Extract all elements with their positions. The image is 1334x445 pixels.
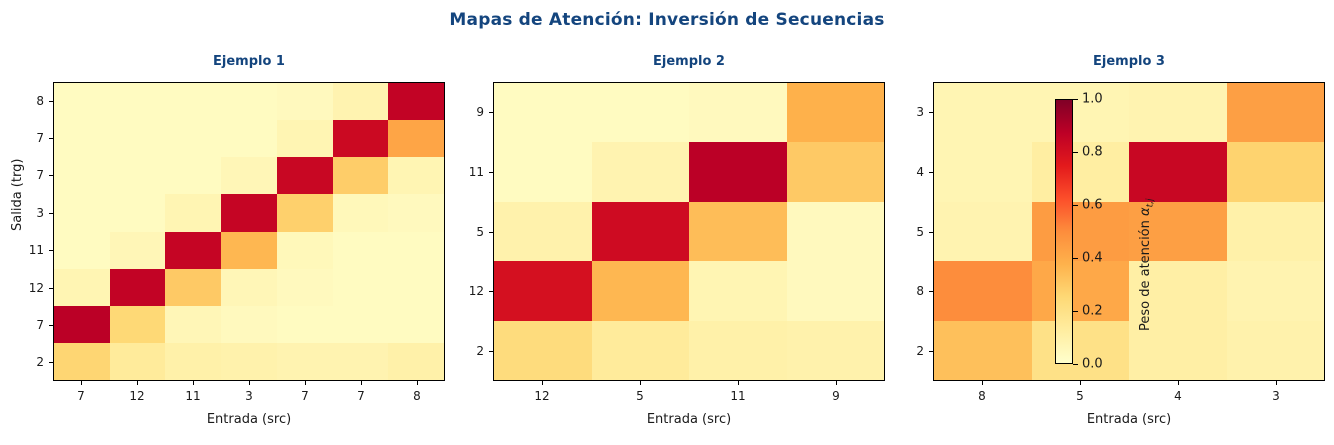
x-tick-label: 11 <box>185 389 200 403</box>
y-tick-mark <box>489 112 493 113</box>
subplot-ejemplo-3: Ejemplo 3 Entrada (src) 854334582 <box>933 82 1325 381</box>
subplot-title-3: Ejemplo 3 <box>933 54 1325 69</box>
heatmap-cell <box>165 120 221 157</box>
x-tick-label: 3 <box>1272 389 1280 403</box>
heatmap-cell <box>277 157 333 194</box>
heatmap-cell <box>494 83 592 142</box>
heatmap-cell <box>787 202 885 261</box>
heatmap-cell <box>333 83 389 120</box>
subplot-title-1: Ejemplo 1 <box>53 54 445 69</box>
x-tick-label: 4 <box>1174 389 1182 403</box>
heatmap-cell <box>494 202 592 261</box>
y-tick-label: 5 <box>476 225 484 239</box>
y-tick-label: 7 <box>36 168 44 182</box>
y-tick-mark <box>49 362 53 363</box>
y-tick-label: 3 <box>916 105 924 119</box>
colorbar-tick-mark <box>1073 99 1078 100</box>
y-tick-mark <box>929 351 933 352</box>
heatmap-cell <box>1032 83 1130 142</box>
colorbar-tick-mark <box>1073 205 1078 206</box>
y-tick-mark <box>929 112 933 113</box>
heatmap-cell <box>221 120 277 157</box>
heatmap-cell <box>110 306 166 343</box>
heatmap-cell <box>934 142 1032 201</box>
figure-title: Mapas de Atención: Inversión de Secuenci… <box>0 10 1334 30</box>
x-tick-mark <box>1178 381 1179 385</box>
heatmap-cell <box>54 157 110 194</box>
y-axis-label: Salida (trg) <box>10 159 25 231</box>
heatmap-cell <box>333 269 389 306</box>
heatmap-cell <box>592 321 690 380</box>
x-tick-mark <box>836 381 837 385</box>
y-tick-label: 3 <box>36 206 44 220</box>
heatmap-cell <box>1032 321 1130 380</box>
heatmap-cell <box>54 343 110 380</box>
y-tick-label: 8 <box>916 284 924 298</box>
colorbar-tick-label: 0.6 <box>1082 198 1103 213</box>
heatmap-cell <box>277 306 333 343</box>
heatmap-cell <box>592 202 690 261</box>
heatmap-cell <box>277 194 333 231</box>
heatmap-cell <box>934 321 1032 380</box>
x-tick-label: 7 <box>77 389 85 403</box>
heatmap-cell <box>165 157 221 194</box>
heatmap-cell <box>1227 83 1325 142</box>
colorbar-label-alpha: α <box>1138 207 1153 216</box>
y-tick-mark <box>49 213 53 214</box>
x-tick-mark <box>417 381 418 385</box>
heatmap-cell <box>110 157 166 194</box>
x-tick-label: 7 <box>301 389 309 403</box>
x-tick-mark <box>1080 381 1081 385</box>
colorbar-tick-mark <box>1073 364 1078 365</box>
heatmap-cell <box>54 194 110 231</box>
heatmap-cell <box>221 194 277 231</box>
heatmap-cell <box>277 83 333 120</box>
heatmap-cell <box>494 261 592 320</box>
heatmap-cell <box>54 120 110 157</box>
y-tick-mark <box>49 250 53 251</box>
heatmap-cell <box>165 194 221 231</box>
heatmap-cell <box>110 232 166 269</box>
x-tick-mark <box>542 381 543 385</box>
colorbar-tick-label: 1.0 <box>1082 92 1103 107</box>
heatmap-cell <box>333 232 389 269</box>
heatmap-cell <box>388 157 444 194</box>
subplot-ejemplo-2: Ejemplo 2 Entrada (src) 1251199115122 <box>493 82 885 381</box>
x-tick-mark <box>137 381 138 385</box>
heatmap-cell <box>388 83 444 120</box>
x-tick-label: 9 <box>832 389 840 403</box>
subplot-title-2: Ejemplo 2 <box>493 54 885 69</box>
x-tick-mark <box>193 381 194 385</box>
heatmap-cell <box>165 269 221 306</box>
heatmap-cell <box>934 83 1032 142</box>
heatmap-cell <box>54 83 110 120</box>
x-tick-label: 7 <box>357 389 365 403</box>
colorbar-tick-label: 0.2 <box>1082 304 1103 319</box>
heatmap-cell <box>221 157 277 194</box>
heatmap-cell <box>689 202 787 261</box>
heatmap-cell <box>787 261 885 320</box>
x-tick-mark <box>305 381 306 385</box>
heatmap-cell <box>494 321 592 380</box>
heatmap-cell <box>1129 142 1227 201</box>
y-tick-mark <box>489 172 493 173</box>
heatmap-cell <box>333 306 389 343</box>
y-tick-mark <box>489 291 493 292</box>
heatmap-cell <box>787 83 885 142</box>
y-tick-mark <box>929 291 933 292</box>
colorbar-tick-label: 0.0 <box>1082 357 1103 372</box>
heatmap-cell <box>165 83 221 120</box>
colorbar-tick-mark <box>1073 152 1078 153</box>
y-tick-label: 2 <box>916 344 924 358</box>
x-tick-label: 8 <box>413 389 421 403</box>
x-axis-label-3: Entrada (src) <box>933 412 1325 427</box>
heatmap-cell <box>221 343 277 380</box>
heatmap-cell <box>787 321 885 380</box>
figure-canvas: Mapas de Atención: Inversión de Secuenci… <box>0 0 1334 445</box>
y-tick-mark <box>489 232 493 233</box>
heatmap-cell <box>1032 202 1130 261</box>
heatmap-cell <box>1227 321 1325 380</box>
x-axis-label-1: Entrada (src) <box>53 412 445 427</box>
heatmap-cell <box>165 306 221 343</box>
x-tick-mark <box>361 381 362 385</box>
heatmap-cell <box>934 261 1032 320</box>
heatmap-cell <box>165 232 221 269</box>
heatmap-cell <box>592 261 690 320</box>
heatmap-cell <box>1227 142 1325 201</box>
heatmap-cell <box>592 142 690 201</box>
heatmap-cell <box>388 120 444 157</box>
y-tick-label: 12 <box>469 284 484 298</box>
y-tick-mark <box>49 138 53 139</box>
heatmap-cell <box>333 343 389 380</box>
heatmap-cell <box>592 83 690 142</box>
y-tick-mark <box>49 101 53 102</box>
heatmap-cell <box>54 306 110 343</box>
heatmap-cell <box>277 269 333 306</box>
x-tick-label: 5 <box>636 389 644 403</box>
heatmap-cell <box>54 269 110 306</box>
y-tick-mark <box>489 351 493 352</box>
heatmap-cell <box>110 343 166 380</box>
x-tick-mark <box>81 381 82 385</box>
heatmap-cell <box>277 232 333 269</box>
colorbar-tick-label: 0.8 <box>1082 145 1103 160</box>
heatmap-cell <box>221 232 277 269</box>
y-tick-label: 11 <box>29 243 44 257</box>
colorbar-tick-mark <box>1073 258 1078 259</box>
heatmap-cell <box>1227 261 1325 320</box>
y-tick-label: 9 <box>476 105 484 119</box>
y-tick-label: 5 <box>916 225 924 239</box>
y-tick-mark <box>49 175 53 176</box>
y-tick-label: 2 <box>36 355 44 369</box>
x-axis-label-2: Entrada (src) <box>493 412 885 427</box>
heatmap-cell <box>689 321 787 380</box>
heatmap-cell <box>110 83 166 120</box>
heatmap-cell <box>1227 202 1325 261</box>
heatmap-cell <box>388 306 444 343</box>
y-tick-label: 8 <box>36 94 44 108</box>
heatmap-cell <box>110 120 166 157</box>
heatmap-cell <box>277 120 333 157</box>
heatmap-cell <box>221 306 277 343</box>
colorbar-gradient <box>1055 99 1073 364</box>
colorbar-label-subscript: t,j <box>1146 199 1156 208</box>
heatmap-cell <box>221 83 277 120</box>
heatmap-cell <box>1032 142 1130 201</box>
x-tick-label: 12 <box>534 389 549 403</box>
x-tick-label: 5 <box>1076 389 1084 403</box>
x-tick-label: 3 <box>245 389 253 403</box>
heatmap-grid-3 <box>933 82 1325 381</box>
heatmap-cell <box>388 194 444 231</box>
heatmap-cell <box>494 142 592 201</box>
heatmap-grid-1 <box>53 82 445 381</box>
colorbar-label: Peso de atención αt,j <box>1138 199 1156 331</box>
colorbar-label-text: Peso de atención <box>1138 216 1153 331</box>
heatmap-cell <box>333 120 389 157</box>
heatmap-cell <box>689 83 787 142</box>
x-tick-mark <box>982 381 983 385</box>
colorbar: Peso de atención αt,j 0.00.20.40.60.81.0 <box>1055 99 1073 364</box>
y-tick-label: 7 <box>36 318 44 332</box>
heatmap-cell <box>333 157 389 194</box>
x-tick-label: 8 <box>978 389 986 403</box>
x-tick-label: 12 <box>129 389 144 403</box>
heatmap-cell <box>221 269 277 306</box>
heatmap-cell <box>689 142 787 201</box>
heatmap-cell <box>1032 261 1130 320</box>
heatmap-cell <box>110 269 166 306</box>
y-tick-label: 2 <box>476 344 484 358</box>
heatmap-cell <box>689 261 787 320</box>
heatmap-cell <box>388 343 444 380</box>
y-tick-mark <box>49 288 53 289</box>
y-tick-mark <box>929 172 933 173</box>
heatmap-cell <box>934 202 1032 261</box>
x-tick-mark <box>249 381 250 385</box>
y-tick-mark <box>49 325 53 326</box>
x-tick-mark <box>1276 381 1277 385</box>
y-tick-label: 12 <box>29 281 44 295</box>
y-tick-label: 11 <box>469 165 484 179</box>
heatmap-cell <box>388 232 444 269</box>
x-tick-label: 11 <box>730 389 745 403</box>
heatmap-cell <box>54 232 110 269</box>
heatmap-cell <box>277 343 333 380</box>
heatmap-cell <box>165 343 221 380</box>
y-tick-label: 7 <box>36 131 44 145</box>
subplot-ejemplo-1: Ejemplo 1 Entrada (src) 7121137788773111… <box>53 82 445 381</box>
colorbar-tick-label: 0.4 <box>1082 251 1103 266</box>
heatmap-cell <box>1129 83 1227 142</box>
colorbar-tick-mark <box>1073 311 1078 312</box>
x-tick-mark <box>738 381 739 385</box>
heatmap-cell <box>110 194 166 231</box>
y-tick-mark <box>929 232 933 233</box>
x-tick-mark <box>640 381 641 385</box>
heatmap-cell <box>787 142 885 201</box>
heatmap-grid-2 <box>493 82 885 381</box>
heatmap-cell <box>333 194 389 231</box>
y-tick-label: 4 <box>916 165 924 179</box>
heatmap-cell <box>388 269 444 306</box>
